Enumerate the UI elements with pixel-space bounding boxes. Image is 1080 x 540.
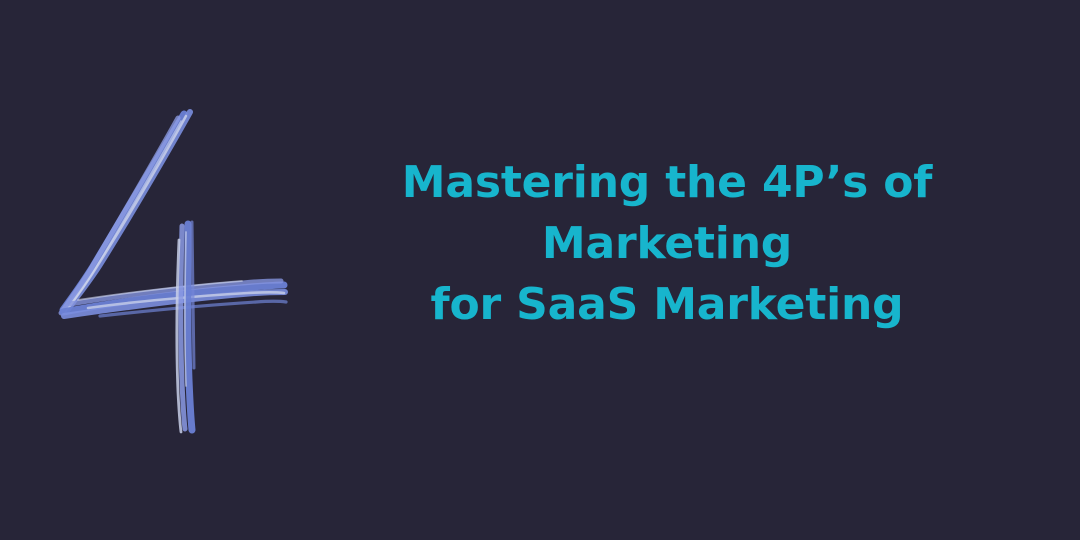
headline-line-2: Marketing — [360, 213, 974, 274]
sketched-four-graphic — [0, 0, 360, 540]
slide-canvas: Mastering the 4P’s of Marketing for SaaS… — [0, 0, 1080, 540]
sketch-stroke-diagonal — [61, 112, 190, 314]
headline-line-1: Mastering the 4P’s of — [360, 152, 974, 213]
headline-block: Mastering the 4P’s of Marketing for SaaS… — [360, 152, 974, 335]
sketched-four-icon — [0, 0, 360, 540]
sketch-stroke-stem — [177, 222, 194, 432]
sketch-stroke-crossbar — [63, 281, 286, 316]
headline-line-3: for SaaS Marketing — [360, 274, 974, 335]
